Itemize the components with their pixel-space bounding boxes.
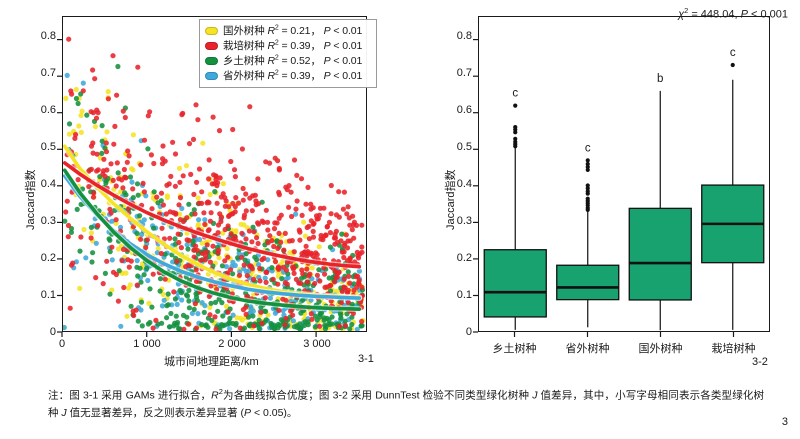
legend-swatch-icon-2 <box>205 57 218 65</box>
boxplot-panel: Jaccard指数 0 0.1 0.2 0.3 0.4 0.5 0.6 0.7 … <box>430 0 800 380</box>
figure-container: Jaccard指数 0 0.1 0.2 0.3 0.4 0.5 0.6 0.7 … <box>0 0 800 439</box>
scatter-legend: 国外树种 R2 = 0.21， P < 0.01 栽培树种 R2 = 0.39，… <box>199 19 377 88</box>
box-category-label-1: 省外树种 <box>556 340 619 356</box>
box-category-label-2: 国外树种 <box>629 340 692 356</box>
legend-label-3: 省外树种 R2 = 0.39， P < 0.01 <box>223 68 362 83</box>
page-number: 3 <box>782 416 788 428</box>
panel-id-3-1: 3-1 <box>358 353 374 365</box>
box-axis-ticks <box>430 0 800 380</box>
box-category-label-3: 栽培树种 <box>702 340 765 356</box>
caption-r2: R <box>211 390 219 402</box>
panel-id-3-2: 3-2 <box>752 356 768 368</box>
legend-swatch-icon-1 <box>205 42 218 50</box>
caption-p: P <box>244 407 251 419</box>
caption-prefix: 注： <box>48 390 69 402</box>
box-category-label-0: 乡土树种 <box>483 340 546 356</box>
figure-caption: 注：图 3-1 采用 GAMs 进行拟合，R2为各曲线拟合优度；图 3-2 采用… <box>48 383 764 422</box>
scatter-panel: Jaccard指数 0 0.1 0.2 0.3 0.4 0.5 0.6 0.7 … <box>0 0 430 380</box>
caption-part5: < 0.05)。 <box>251 407 297 419</box>
legend-item-0[interactable]: 国外树种 R2 = 0.21， P < 0.01 <box>205 23 371 38</box>
legend-item-1[interactable]: 栽培树种 R2 = 0.39， P < 0.01 <box>205 38 371 53</box>
legend-item-2[interactable]: 乡土树种 R2 = 0.52， P < 0.01 <box>205 53 371 68</box>
legend-label-0: 国外树种 R2 = 0.21， P < 0.01 <box>223 23 362 38</box>
caption-part1: 图 3-1 采用 GAMs 进行拟合， <box>69 390 211 402</box>
chi-square-annotation: χ2 = 448.04, P < 0.001 <box>678 6 788 21</box>
legend-label-1: 栽培树种 R2 = 0.39， P < 0.01 <box>223 38 362 53</box>
legend-swatch-icon-3 <box>205 72 218 80</box>
legend-item-3[interactable]: 省外树种 R2 = 0.39， P < 0.01 <box>205 68 371 83</box>
legend-label-2: 乡土树种 R2 = 0.52， P < 0.01 <box>223 53 362 68</box>
caption-part4: 值无显著差异，反之则表示差异显著 ( <box>67 407 244 419</box>
caption-part2: 为各曲线拟合优度；图 3-2 采用 DunnTest 检验不同类型绿化树种 <box>223 390 532 402</box>
legend-swatch-icon-0 <box>205 27 218 35</box>
